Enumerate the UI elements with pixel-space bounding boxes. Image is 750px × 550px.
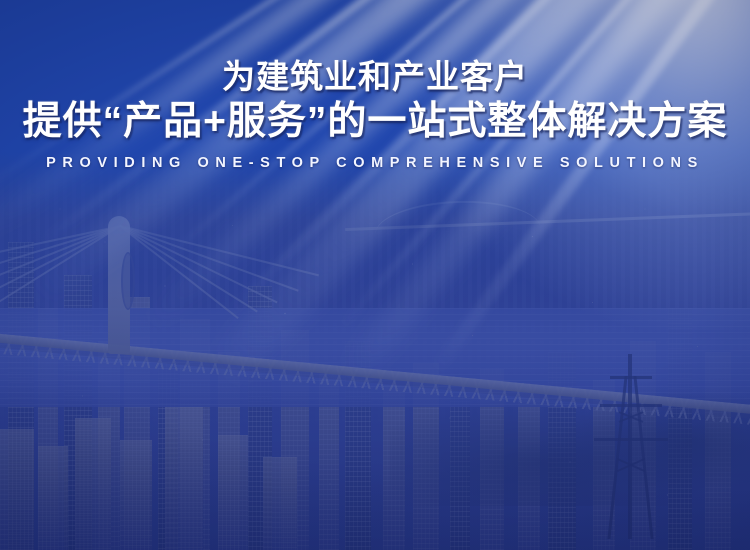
english-subheadline: PROVIDING ONE-STOP COMPREHENSIVE SOLUTIO… <box>0 155 750 171</box>
hero-banner: 为建筑业和产业客户 提供“产品+服务”的一站式整体解决方案 PROVIDING … <box>0 0 750 550</box>
banner-copy: 为建筑业和产业客户 提供“产品+服务”的一站式整体解决方案 PROVIDING … <box>0 0 750 171</box>
headline-line-1: 为建筑业和产业客户 <box>0 60 750 93</box>
headline-line-2: 提供“产品+服务”的一站式整体解决方案 <box>0 102 750 141</box>
